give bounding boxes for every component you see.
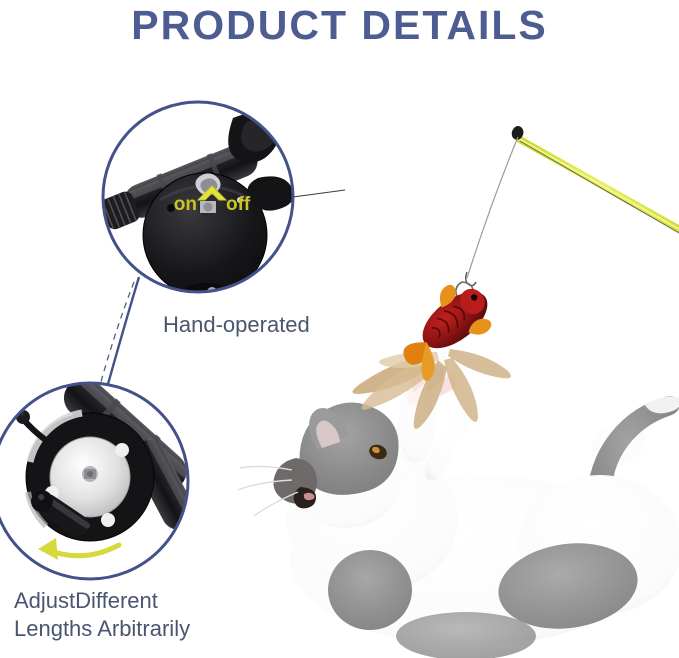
switch-label-off: off [226, 194, 251, 215]
switch-label-on: on [174, 194, 197, 215]
callout-caption-hand-operated: Hand-operated [163, 312, 310, 338]
connector-pointer [293, 190, 345, 197]
callout-caption-adjust-lengths: AdjustDifferent Lengths Arbitrarily [14, 587, 190, 643]
product-scene: on off [0, 0, 679, 658]
caption-line-1: AdjustDifferent [14, 587, 190, 615]
fishing-line [456, 137, 518, 300]
caption-line-2: Lengths Arbitrarily [14, 615, 190, 643]
product-details-page: PRODUCT DETAILS [0, 0, 679, 658]
teaser-rod [512, 126, 679, 233]
reel-brake-closeup [97, 98, 300, 301]
